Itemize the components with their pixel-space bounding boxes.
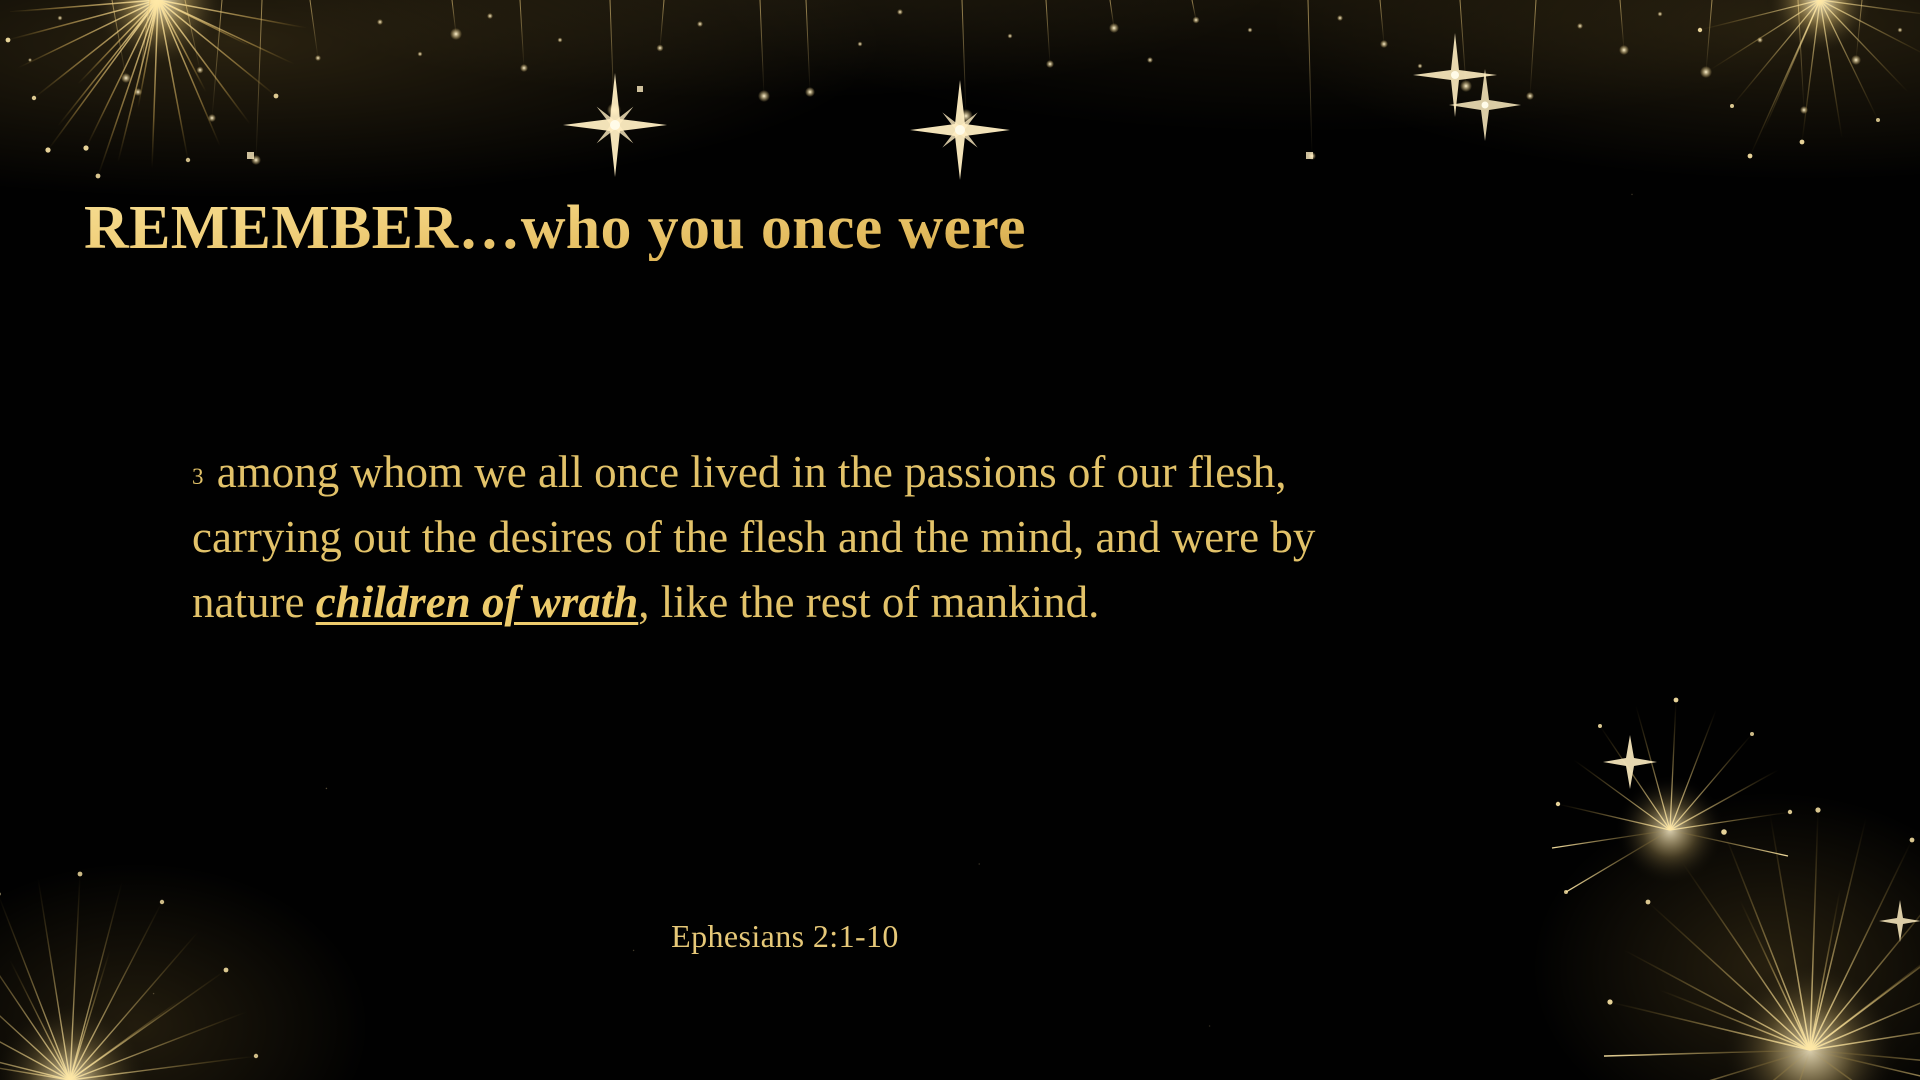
scripture-reference: Ephesians 2:1-10 [0, 918, 1570, 955]
slide-title: REMEMBER…who you once were [84, 196, 1584, 261]
slide-content: REMEMBER…who you once were 3 among whom … [0, 0, 1920, 1080]
verse-text-after: , like the rest of mankind. [638, 577, 1099, 627]
verse-emphasis: children of wrath [316, 577, 639, 627]
presentation-slide: REMEMBER…who you once were 3 among whom … [0, 0, 1920, 1080]
verse-number: 3 [192, 464, 206, 489]
scripture-body: 3 among whom we all once lived in the pa… [192, 440, 1352, 634]
